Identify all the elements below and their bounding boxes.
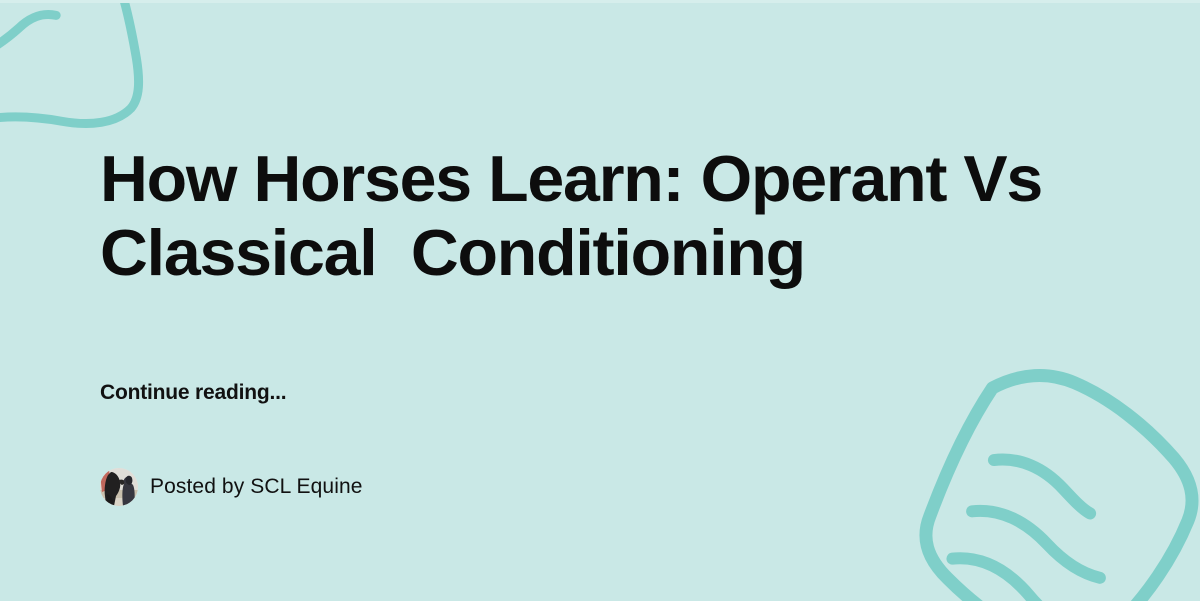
avatar — [100, 468, 138, 506]
byline: Posted by SCL Equine — [100, 468, 363, 506]
blog-post-card: How Horses Learn: Operant Vs Classical C… — [0, 0, 1200, 601]
byline-text: Posted by SCL Equine — [150, 475, 363, 499]
note-doodle-icon — [879, 360, 1200, 601]
continue-reading-link[interactable]: Continue reading... — [100, 381, 286, 405]
page-title: How Horses Learn: Operant Vs Classical C… — [100, 142, 1130, 290]
note-doodle-icon — [0, 0, 175, 158]
top-edge-highlight — [0, 0, 1200, 3]
